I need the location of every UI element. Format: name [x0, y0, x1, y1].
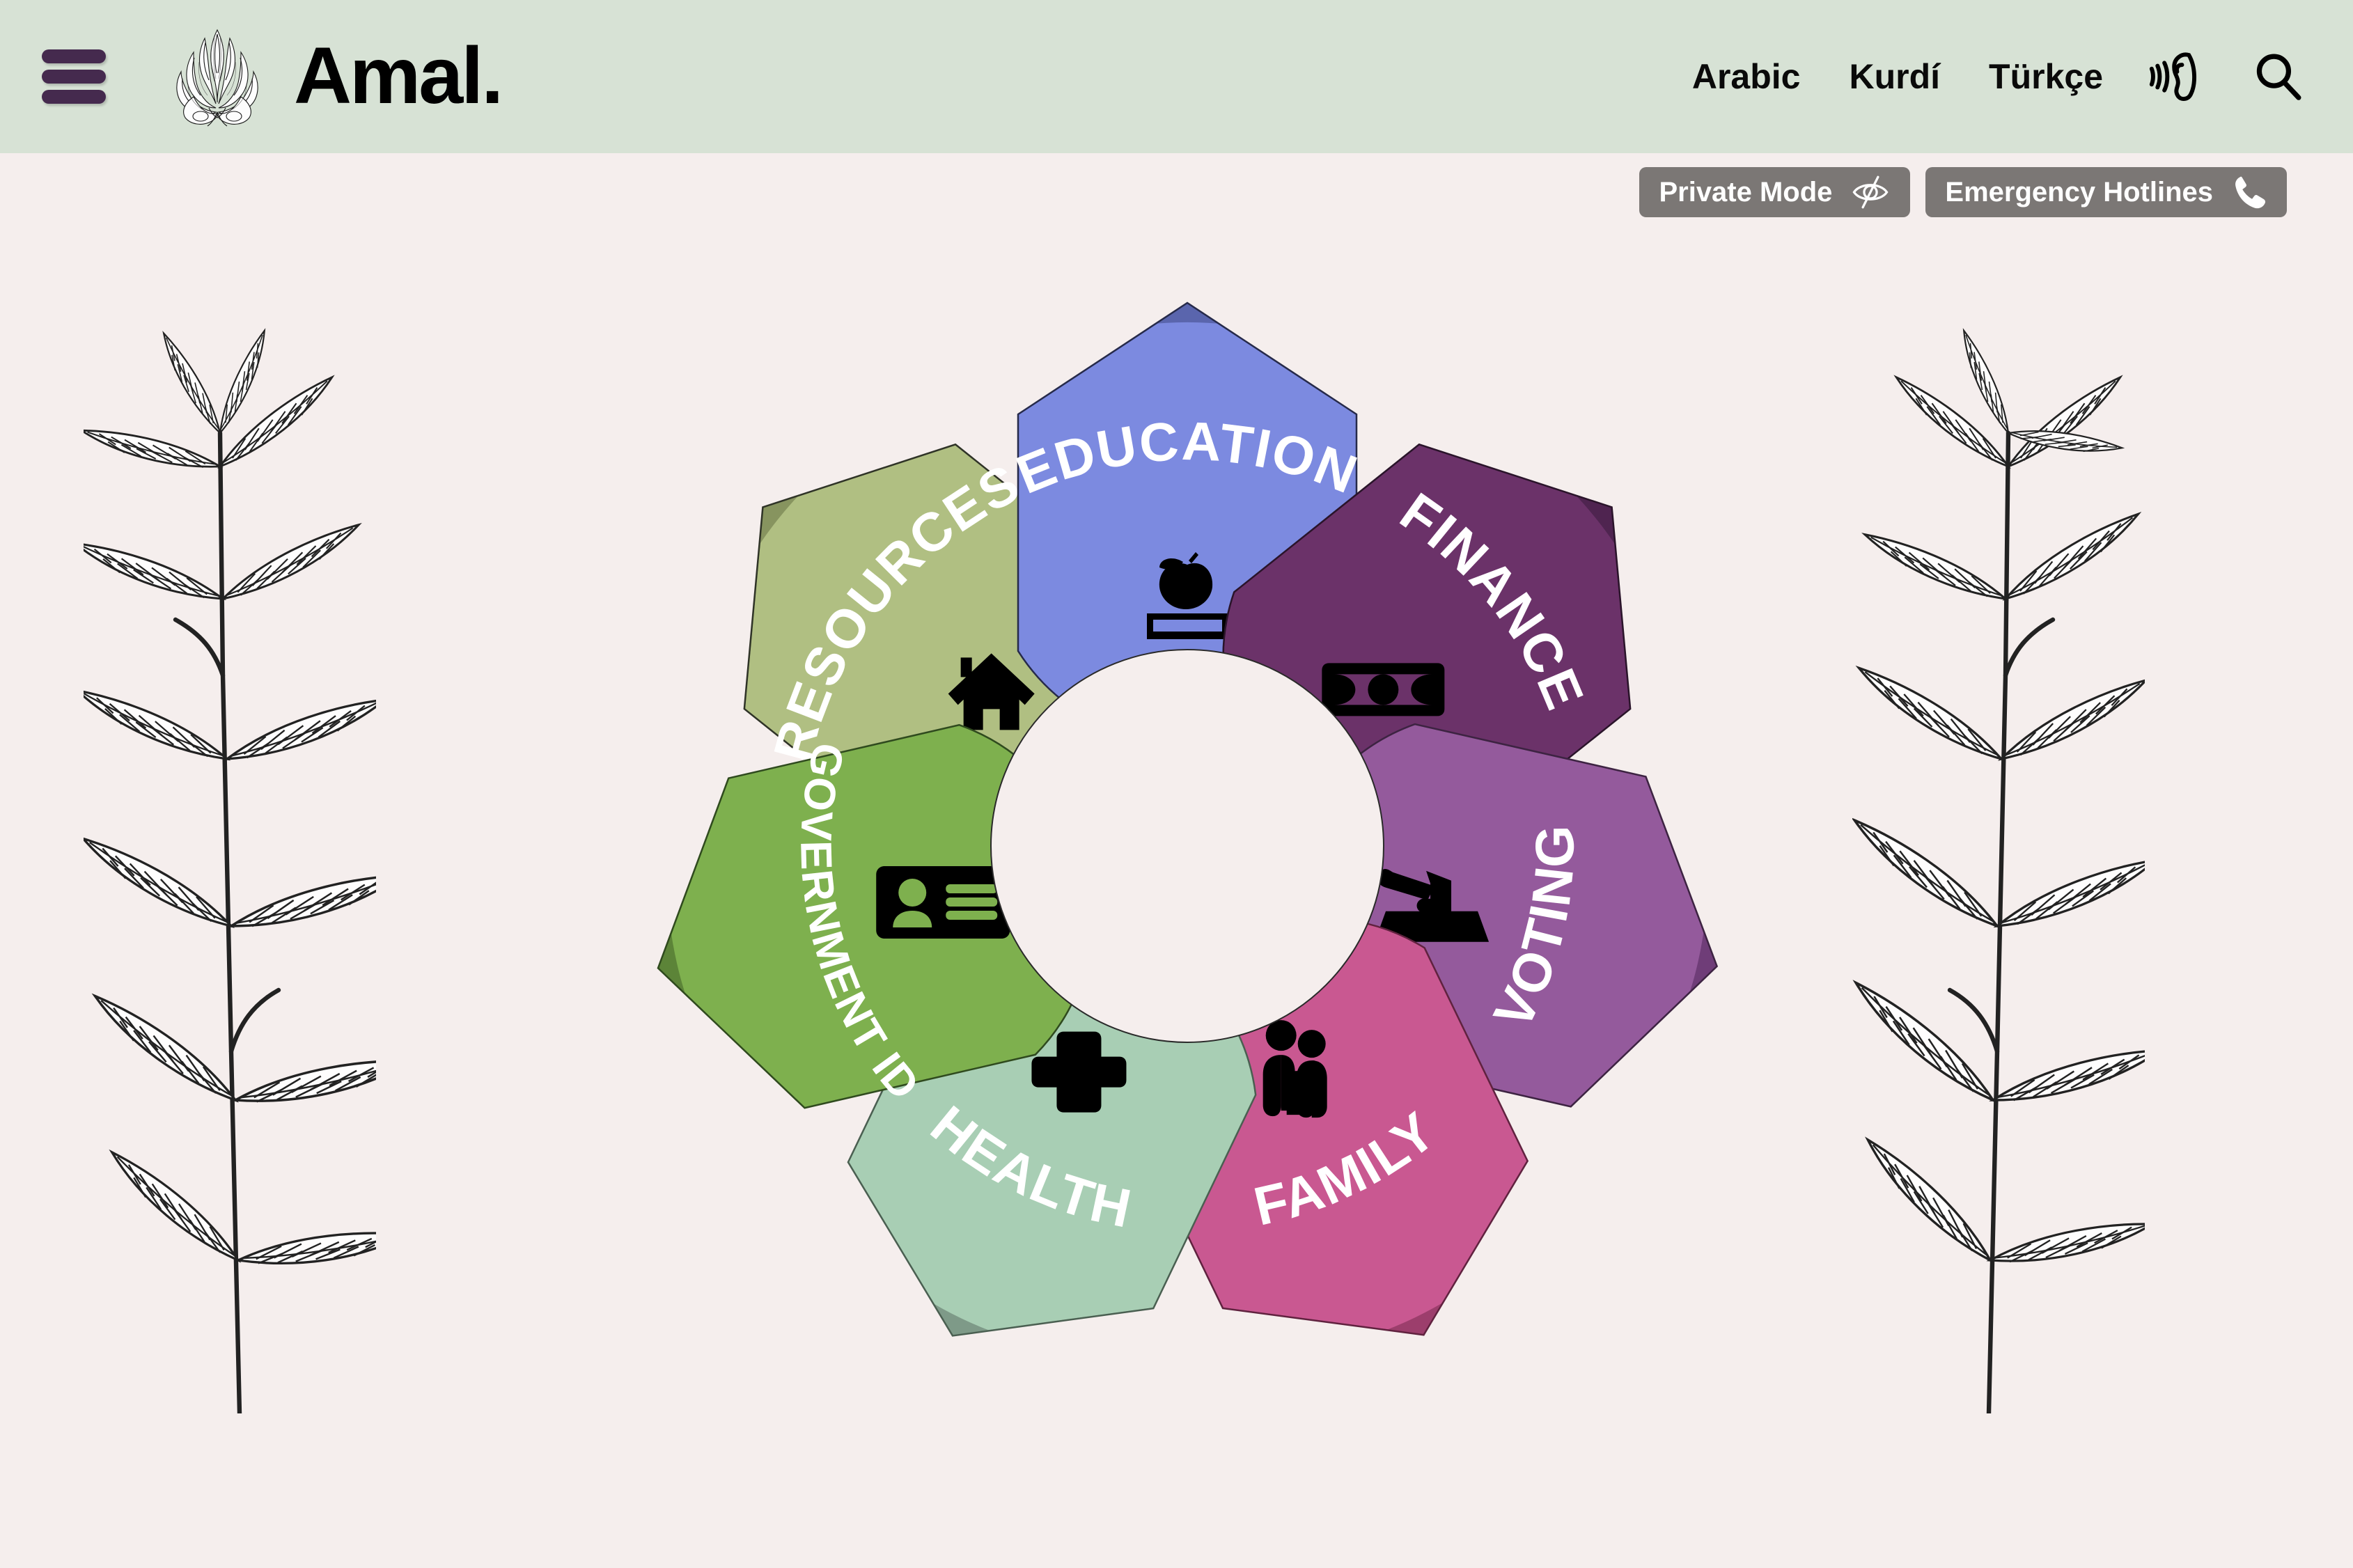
phone-icon	[2231, 174, 2267, 210]
language-link-arabic[interactable]: Arabic	[1668, 56, 1825, 97]
action-bar: Private Mode Emergency Hotlines	[1639, 167, 2287, 217]
hamburger-menu-button[interactable]	[42, 49, 106, 104]
botanical-branch-right	[1852, 299, 2145, 1413]
language-link-kurdi[interactable]: Kurdí	[1824, 56, 1964, 97]
header-nav: Arabic Kurdí Türkçe	[1668, 45, 2315, 108]
hamburger-bar-1	[42, 49, 106, 63]
flower-navigation: RESOURCES EDUCATION	[588, 254, 1786, 1438]
private-mode-button[interactable]: Private Mode	[1639, 167, 1910, 217]
site-header: Amal. Arabic Kurdí Türkçe	[0, 0, 2353, 153]
botanical-branch-left	[84, 299, 376, 1413]
search-icon[interactable]	[2249, 47, 2308, 106]
lotus-flower-logo	[162, 24, 273, 129]
brand-title: Amal.	[294, 40, 501, 113]
flower-svg: RESOURCES EDUCATION	[588, 254, 1786, 1438]
ear-hearing-icon[interactable]	[2145, 45, 2207, 108]
hamburger-bar-3	[42, 90, 106, 104]
brand[interactable]: Amal.	[162, 24, 501, 129]
eye-off-icon	[1850, 175, 1891, 209]
private-mode-label: Private Mode	[1659, 177, 1832, 208]
hamburger-bar-2	[42, 70, 106, 84]
emergency-hotlines-button[interactable]: Emergency Hotlines	[1925, 167, 2287, 217]
emergency-hotlines-label: Emergency Hotlines	[1945, 177, 2213, 208]
language-link-turkce[interactable]: Türkçe	[1964, 56, 2127, 97]
